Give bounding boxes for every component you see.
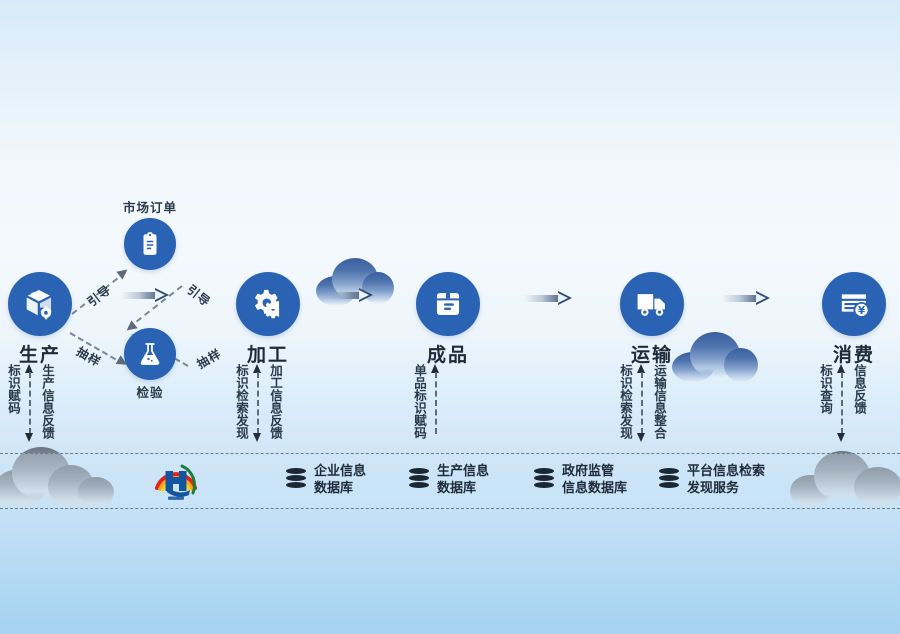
svg-text:¥: ¥ xyxy=(858,306,865,317)
arrow-finished-to-transport xyxy=(524,291,584,305)
feedback-transport-right-label: 运输信息整合 xyxy=(652,364,666,439)
arrow-transport-to-consumption xyxy=(722,291,782,305)
flask-icon xyxy=(137,341,163,367)
database-item-1-line2: 数据库 xyxy=(437,479,489,496)
label-guide-right: 引导 xyxy=(184,281,215,310)
feedback-transport: 标识检索发现 运输信息整合 xyxy=(618,364,666,442)
package-icon xyxy=(431,287,465,321)
arrow-production-to-processing xyxy=(121,288,181,302)
feedback-processing-right-label: 加工信息反馈 xyxy=(268,364,282,439)
arrow-processing-to-finished xyxy=(325,288,385,302)
database-item-0-line1: 企业信息 xyxy=(314,462,366,479)
node-inspection[interactable]: 检验 xyxy=(124,328,176,380)
feedback-consumption-left-label: 标识查询 xyxy=(818,364,832,414)
receipt-yuan-icon: ¥ xyxy=(837,287,871,321)
node-consumption[interactable]: ¥ 消费 xyxy=(822,272,886,336)
database-item-0-line2: 数据库 xyxy=(314,479,366,496)
diagram-canvas: 引导 引导 抽样 抽样 市场订单 xyxy=(0,0,900,634)
database-item-1[interactable]: 生产信息 数据库 xyxy=(409,462,489,496)
feedback-consumption-right-label: 信息反馈 xyxy=(852,364,866,414)
cloud-decoration-mid-right xyxy=(672,332,758,382)
node-finished-label: 成品 xyxy=(427,340,469,367)
feedback-finished: 单品标识赋码 xyxy=(412,364,446,442)
node-transport-label: 运输 xyxy=(631,340,673,367)
clipboard-icon xyxy=(137,231,163,257)
feedback-consumption: 标识查询 信息反馈 xyxy=(818,364,866,442)
feedback-processing: 标识检索发现 加工信息反馈 xyxy=(234,364,282,442)
node-production-label: 生产 xyxy=(19,340,61,367)
node-market-order-label: 市场订单 xyxy=(123,197,177,216)
feedback-transport-left-label: 标识检索发现 xyxy=(618,364,632,439)
database-icon xyxy=(534,468,554,490)
gears-icon xyxy=(250,286,286,322)
label-sample-right: 抽样 xyxy=(193,345,224,373)
node-processing-label: 加工 xyxy=(247,340,289,367)
database-item-1-line1: 生产信息 xyxy=(437,462,489,479)
database-item-3-line2: 发现服务 xyxy=(687,479,765,496)
database-item-3[interactable]: 平台信息检索 发现服务 xyxy=(659,462,765,496)
feedback-production-right-label: 生产信息反馈 xyxy=(40,364,54,439)
node-finished[interactable]: 成品 xyxy=(416,272,480,336)
label-sample-left: 抽样 xyxy=(73,343,104,371)
database-icon xyxy=(286,468,306,490)
box-gear-icon xyxy=(23,287,57,321)
node-inspection-label: 检验 xyxy=(136,382,163,401)
database-item-2[interactable]: 政府监管 信息数据库 xyxy=(534,462,627,496)
feedback-production-left-label: 标识赋码 xyxy=(6,364,20,414)
platform-logo xyxy=(152,457,200,508)
node-consumption-label: 消费 xyxy=(833,340,875,367)
database-icon xyxy=(659,468,679,490)
database-item-3-line1: 平台信息检索 xyxy=(687,462,765,479)
feedback-production: 标识赋码 生产信息反馈 xyxy=(6,364,54,442)
database-item-2-line1: 政府监管 xyxy=(562,462,627,479)
node-processing[interactable]: 加工 xyxy=(236,272,300,336)
node-production[interactable]: 生产 xyxy=(8,272,72,336)
node-market-order[interactable]: 市场订单 xyxy=(124,218,176,270)
database-item-2-line2: 信息数据库 xyxy=(562,479,627,496)
database-item-0[interactable]: 企业信息 数据库 xyxy=(286,462,366,496)
truck-icon xyxy=(634,286,670,322)
database-icon xyxy=(409,468,429,490)
feedback-processing-left-label: 标识检索发现 xyxy=(234,364,248,439)
node-transport[interactable]: 运输 xyxy=(620,272,684,336)
feedback-finished-left-label: 单品标识赋码 xyxy=(412,364,426,439)
